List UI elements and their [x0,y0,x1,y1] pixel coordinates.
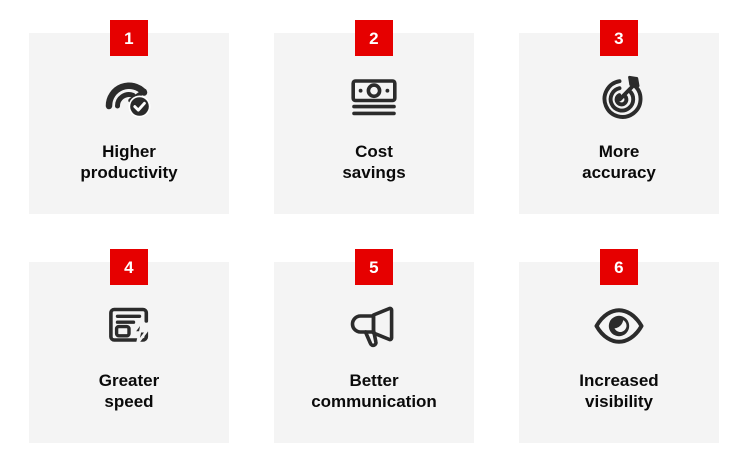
card-number-badge: 6 [600,249,638,285]
gauge-check-icon [103,73,155,121]
eye-icon [593,302,645,350]
benefit-label: Increased visibility [524,370,714,412]
banknote-icon [349,73,399,121]
screen-bolt-icon [103,302,155,350]
card-number-badge: 5 [355,249,393,285]
benefit-card-3[interactable]: 3 More accuracy [519,33,719,214]
benefit-label: Higher productivity [34,141,224,183]
card-number-badge: 4 [110,249,148,285]
benefit-label: More accuracy [524,141,714,183]
benefit-label: Greater speed [34,370,224,412]
benefit-label: Better communication [279,370,469,412]
card-number-badge: 3 [600,20,638,56]
benefit-card-2[interactable]: 2 Cost savings [274,33,474,214]
benefit-card-1[interactable]: 1 Higher productivity [29,33,229,214]
card-number-badge: 2 [355,20,393,56]
benefit-card-5[interactable]: 5 Better communication [274,262,474,443]
benefit-card-4[interactable]: 4 Greater speed [29,262,229,443]
megaphone-icon [349,302,399,350]
benefit-label: Cost savings [279,141,469,183]
card-number-badge: 1 [110,20,148,56]
benefit-card-6[interactable]: 6 Increased visibility [519,262,719,443]
target-dart-icon [594,73,644,121]
benefits-grid: 1 Higher productivity 2 [0,0,750,469]
